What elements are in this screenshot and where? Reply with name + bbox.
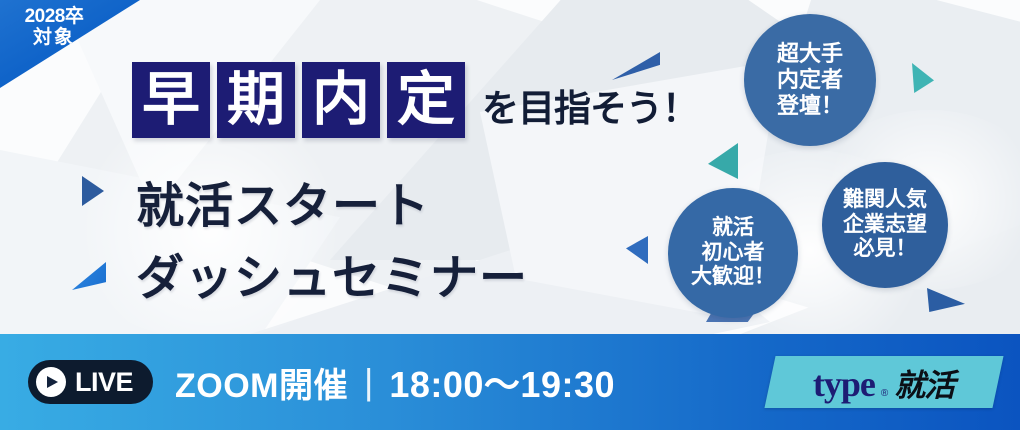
play-icon: [36, 367, 66, 397]
subtitle-line-2: ダッシュセミナー: [136, 238, 528, 308]
feature-badge-beginners-welcome: 就活 初心者 大歓迎！: [668, 188, 798, 318]
badge-line: 大歓迎！: [691, 265, 775, 290]
badge-line: 企業志望: [843, 213, 927, 238]
live-badge: LIVE: [28, 360, 153, 404]
title-char-box: 早: [132, 62, 210, 138]
title-char-box: 内: [302, 62, 380, 138]
subtitle-line-1: 就活スタート: [136, 166, 430, 236]
bar-divider: |: [364, 361, 373, 403]
badge-line: 登壇！: [777, 93, 843, 119]
ribbon-year-label: 2028卒: [6, 6, 102, 27]
event-info-bar: LIVE ZOOM開催 | 18:00〜19:30 type ® 就活: [0, 334, 1020, 430]
event-time: 18:00〜19:30: [389, 356, 615, 408]
title-tail-text: を目指そう！: [482, 78, 698, 132]
badge-line: 難関人気: [843, 188, 927, 213]
registered-trademark-icon: ®: [881, 388, 888, 399]
title-char-box: 定: [387, 62, 465, 138]
type-shukatsu-logo[interactable]: type ® 就活: [764, 356, 1003, 408]
logo-suffix-text: 就活: [895, 360, 955, 405]
badge-line: 超大手: [777, 41, 843, 67]
badge-line: 就活: [712, 216, 754, 241]
feature-badge-top-manufacturer: 超大手 内定者 登壇！: [744, 14, 876, 146]
platform-label: ZOOM開催: [175, 358, 348, 407]
badge-line: 必見！: [854, 237, 917, 262]
logo-brand-text: type: [813, 363, 875, 405]
page-title: 早 期 内 定 を目指そう！: [132, 62, 698, 138]
feature-badge-competitive-companies: 難関人気 企業志望 必見！: [822, 162, 948, 288]
badge-line: 内定者: [777, 67, 843, 93]
live-label: LIVE: [75, 367, 133, 398]
seminar-banner[interactable]: 2028卒 対象 早 期 内 定 を目指そう！ 就活スタート ダッシュセミナー …: [0, 0, 1020, 430]
badge-line: 初心者: [702, 241, 765, 266]
title-char-box: 期: [217, 62, 295, 138]
